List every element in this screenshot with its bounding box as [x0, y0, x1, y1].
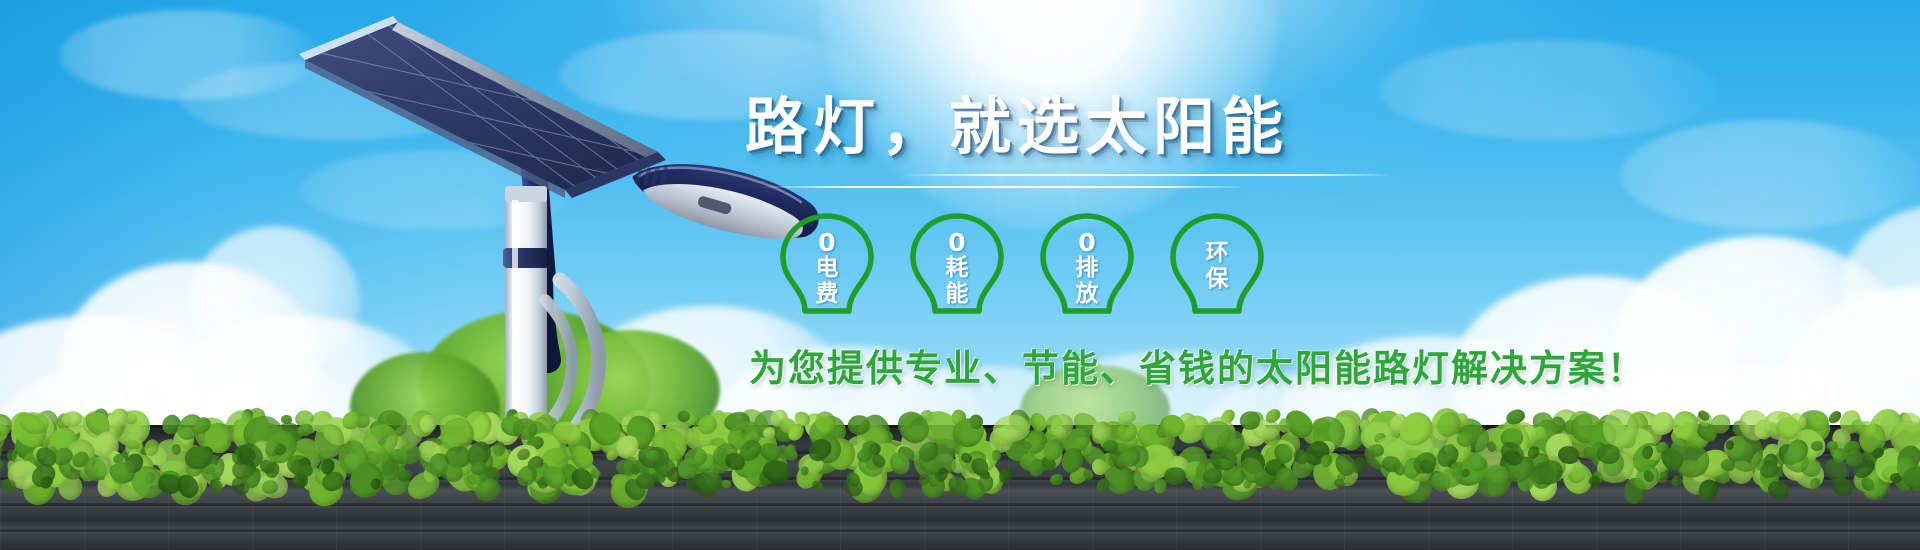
- badge-zero-value: 0: [818, 230, 835, 255]
- badge-label-line2: 保: [1206, 267, 1229, 292]
- badge-text: 0 耗 能: [905, 210, 1009, 322]
- badge-label-line1: 环: [1206, 241, 1229, 266]
- solar-street-light-banner: 路灯，就选太阳能 0 电 费 0: [0, 0, 1920, 550]
- badge-label-line2: 能: [946, 282, 969, 307]
- badge-text: 0 电 费: [775, 210, 879, 322]
- badge-eco-friendly: 环 保: [1165, 210, 1269, 322]
- badge-label-line1: 耗: [946, 256, 969, 281]
- wall-top-shadow: [0, 425, 1920, 447]
- divider-line-top: [905, 174, 1387, 176]
- grey-brick-wall: [0, 425, 1920, 550]
- badge-zero-energy-use: 0 耗 能: [905, 210, 1009, 322]
- badge-label-line1: 电: [816, 256, 839, 281]
- badge-text: 0 排 放: [1035, 210, 1139, 322]
- divider-group: [745, 170, 1485, 196]
- badge-label-line2: 费: [816, 282, 839, 307]
- badge-zero-value: 0: [948, 230, 965, 255]
- badge-zero-electricity-cost: 0 电 费: [775, 210, 879, 322]
- badge-label-line1: 排: [1076, 256, 1099, 281]
- feature-badge-list: 0 电 费 0 耗 能 0: [775, 210, 1485, 322]
- badge-zero-value: 0: [1078, 230, 1095, 255]
- page-title: 路灯，就选太阳能: [745, 96, 1485, 158]
- badge-text: 环 保: [1165, 210, 1269, 322]
- badge-label-line2: 放: [1076, 282, 1099, 307]
- page-subtitle: 为您提供专业、节能、省钱的太阳能路灯解决方案！: [749, 338, 1485, 392]
- divider-line-bottom: [763, 186, 1241, 188]
- banner-copy: 路灯，就选太阳能 0 电 费 0: [745, 96, 1485, 392]
- badge-zero-emission: 0 排 放: [1035, 210, 1139, 322]
